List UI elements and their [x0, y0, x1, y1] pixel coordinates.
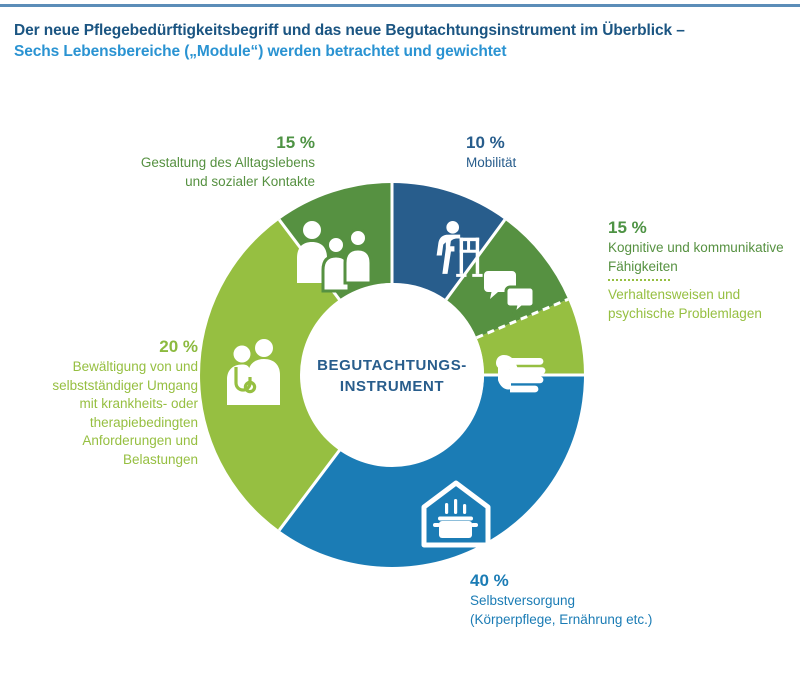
label-mobility-percent: 10 % — [466, 132, 666, 154]
label-coping-line-2: selbstständiger Umgang — [18, 377, 198, 396]
label-coping-percent: 20 % — [18, 336, 198, 358]
label-mobility-line-1: Mobilität — [466, 154, 666, 173]
center-label: BEGUTACHTUNGS- INSTRUMENT — [292, 355, 492, 397]
label-social: 15 % Gestaltung des Alltagslebens und so… — [60, 132, 315, 191]
donut-chart: BEGUTACHTUNGS- INSTRUMENT 15 % Gestaltun… — [0, 0, 800, 691]
label-selfcare-line-2: (Körperpflege, Ernährung etc.) — [470, 611, 770, 630]
label-coping: 20 % Bewältigung von und selbstständiger… — [18, 336, 198, 469]
label-coping-line-6: Belastungen — [18, 451, 198, 470]
label-social-line-1: Gestaltung des Alltagslebens — [60, 154, 315, 173]
label-behaviour: Verhaltensweisen und psychische Probleml… — [608, 286, 800, 323]
label-cognitive-line-2: Fähigkeiten — [608, 258, 800, 277]
label-selfcare: 40 % Selbstversorgung (Körperpflege, Ern… — [470, 570, 770, 629]
label-cognitive: 15 % Kognitive und kommunikative Fähigke… — [608, 217, 800, 276]
label-coping-line-1: Bewältigung von und — [18, 358, 198, 377]
label-divider-dots — [608, 279, 670, 283]
label-selfcare-line-1: Selbstversorgung — [470, 592, 770, 611]
label-coping-line-4: therapiebedingten — [18, 414, 198, 433]
label-cognitive-percent: 15 % — [608, 217, 800, 239]
center-label-line-2: INSTRUMENT — [292, 376, 492, 397]
label-social-percent: 15 % — [60, 132, 315, 154]
label-coping-line-3: mit krankheits- oder — [18, 395, 198, 414]
label-behaviour-line-1: Verhaltensweisen und — [608, 286, 800, 305]
center-label-line-1: BEGUTACHTUNGS- — [292, 355, 492, 376]
label-behaviour-line-2: psychische Problemlagen — [608, 305, 800, 324]
label-social-line-2: und sozialer Kontakte — [60, 173, 315, 192]
label-coping-line-5: Anforderungen und — [18, 432, 198, 451]
label-mobility: 10 % Mobilität — [466, 132, 666, 173]
label-cognitive-line-1: Kognitive und kommunikative — [608, 239, 800, 258]
label-selfcare-percent: 40 % — [470, 570, 770, 592]
